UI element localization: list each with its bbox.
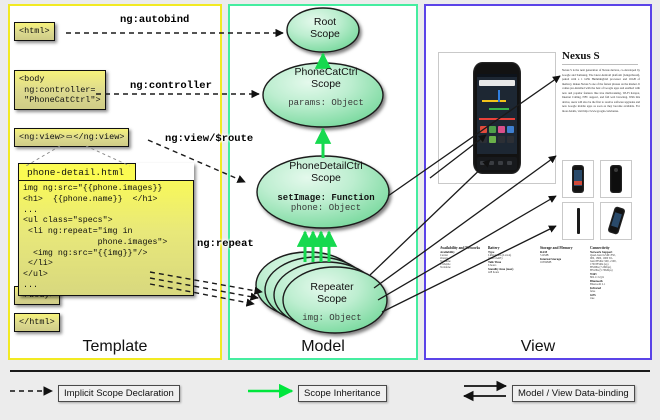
spec-column-availability: Availability and Networks Availability C… [440,246,484,269]
label-ng-controller: ng:controller [130,80,212,92]
title-divider [562,64,638,65]
panel-model-label: Model [230,338,416,356]
panel-model: Model [228,4,418,360]
view-product-page: Nexus S Nexus S is the next generation o… [430,14,646,332]
legend-divider [10,370,650,372]
phone-screen [477,74,517,154]
phone-home-buttons [477,157,517,170]
legend-implicit-scope-declaration: Implicit Scope Declaration [58,385,180,402]
panel-view-label: View [426,338,650,356]
thumbnail-angled[interactable] [600,202,632,240]
legend-scope-inheritance: Scope Inheritance [298,385,387,402]
product-title: Nexus S [562,50,600,62]
template-note: phone-detail.html img ng:src="{{phone.im… [18,163,194,296]
spec-column-connectivity: Connectivity Network Support Quad-band G… [590,246,644,300]
code-html-close: </html> [14,313,60,332]
product-main-image-frame [438,52,556,184]
note-code: img ng:src="{{phone.images}} <h1> {{phon… [18,180,194,296]
product-description: Nexus S is the next generation of Nexus … [562,68,640,113]
legend-model-view-data-binding: Model / View Data-binding [512,385,635,402]
spec-column-storage: Storage and Memory RAM 512MB Internal St… [540,246,590,264]
note-filename: phone-detail.html [18,163,136,180]
thumbnail-side[interactable] [562,202,594,240]
phone-main-image [473,62,521,174]
code-body-open: <body ng:controller= "PhoneCatCtrl"> [14,70,106,110]
label-ng-repeat: ng:repeat [197,238,254,250]
thumbnail-front[interactable] [562,160,594,198]
code-ngview: <ng:view> ▭ </ng:view> [14,128,129,147]
thumbnail-back[interactable] [600,160,632,198]
code-html-open: <html> [14,22,55,41]
diagram-root: Template Model View <html> <body ng:cont… [0,0,660,420]
label-ng-autobind: ng:autobind [120,14,189,26]
panel-template-label: Template [10,338,220,356]
spec-column-battery: Battery Type Lithium Ion (Li-Ion) (1500 … [488,246,536,274]
label-ng-view-route: ng:view/$route [165,133,253,145]
